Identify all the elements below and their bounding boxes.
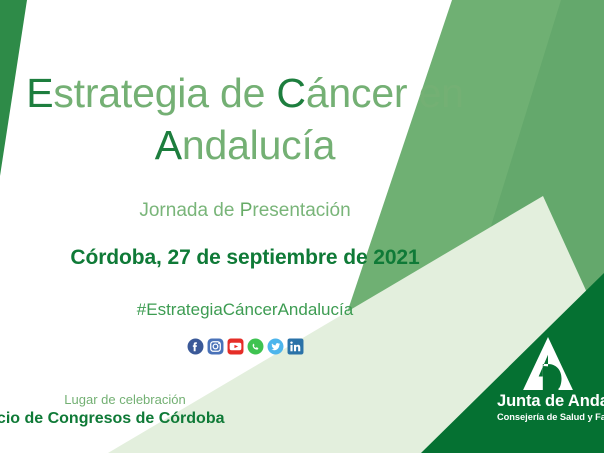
title-text-3: ndalucía <box>182 122 335 168</box>
event-hashtag: #EstrategiaCáncerAndalucía <box>0 300 490 320</box>
junta-de-andalucia-logo: Junta de Andalucía Consejería de Salud y… <box>497 336 604 422</box>
title-cap-c: C <box>276 70 305 116</box>
venue-label: Lugar de celebración <box>0 392 250 407</box>
subtitle-cap-p: P <box>240 200 253 221</box>
title-cap-a: A <box>155 122 182 168</box>
subtitle: Jornada de Presentación <box>0 200 490 222</box>
facebook-icon[interactable] <box>187 338 204 355</box>
instagram-icon[interactable] <box>207 338 224 355</box>
title-text-2: áncer en <box>306 70 464 116</box>
twitter-icon[interactable] <box>267 338 284 355</box>
event-date: Córdoba, 27 de septiembre de 2021 <box>0 246 490 270</box>
youtube-icon[interactable] <box>227 338 244 355</box>
slide-content: Estrategia de Cáncer enAndalucía Jornada… <box>0 0 604 453</box>
logo-department: Consejería de Salud y Familias <box>497 412 604 422</box>
title-text-1: strategia de <box>53 70 276 116</box>
venue-name: Palacio de Congresos de Córdoba <box>0 410 214 428</box>
presentation-slide: Estrategia de Cáncer enAndalucía Jornada… <box>0 0 604 453</box>
title-cap-e: E <box>26 70 53 116</box>
andalucia-a-icon <box>522 336 574 390</box>
subtitle-text-2: resentación <box>252 200 350 221</box>
whatsapp-icon[interactable] <box>247 338 264 355</box>
social-links <box>0 338 490 355</box>
linkedin-icon[interactable] <box>287 338 304 355</box>
subtitle-text-1: Jornada de <box>139 200 239 221</box>
page-title: Estrategia de Cáncer enAndalucía <box>0 68 490 171</box>
logo-organization: Junta de Andalucía <box>497 392 604 410</box>
